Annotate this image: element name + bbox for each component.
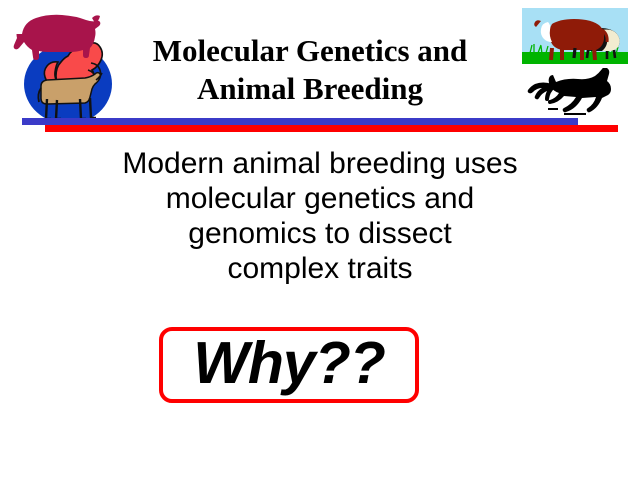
why-callout-text: Why??: [163, 331, 415, 399]
divider-bar-red: [45, 125, 618, 132]
body-line-4: complex traits: [40, 251, 600, 286]
title-line-2: Animal Breeding: [104, 70, 516, 108]
page-title: Molecular Genetics and Animal Breeding: [104, 32, 516, 108]
hereford-cow-icon: [534, 19, 607, 60]
title-line-1: Molecular Genetics and: [104, 32, 516, 70]
galloping-horse-icon: [518, 68, 630, 118]
cattle-pasture-photo: [522, 8, 628, 64]
body-line-2: molecular genetics and: [40, 181, 600, 216]
body-line-3: genomics to dissect: [40, 216, 600, 251]
why-callout-box: Why??: [159, 327, 419, 403]
body-text: Modern animal breeding uses molecular ge…: [40, 146, 600, 286]
divider-bar-blue: [22, 118, 578, 125]
body-line-1: Modern animal breeding uses: [40, 146, 600, 181]
slide-canvas: Molecular Genetics and Animal Breeding: [0, 0, 640, 480]
